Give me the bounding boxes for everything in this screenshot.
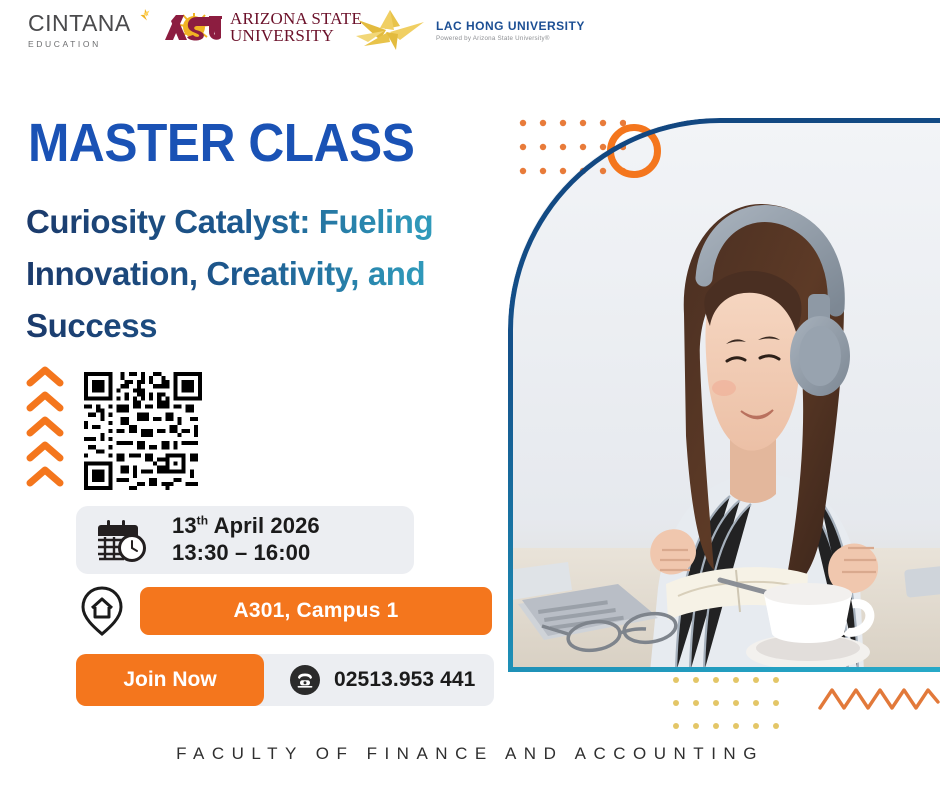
circle-ring-orange <box>607 124 661 178</box>
logo-bar: CINTANA EDUCATION <box>0 0 940 70</box>
datetime-panel: 13th April 2026 13:30 – 16:00 <box>76 506 414 574</box>
lhu-name: LAC HONG UNIVERSITY <box>436 19 585 33</box>
event-date: 13th April 2026 <box>172 513 320 540</box>
chevron-up-icon <box>24 366 68 490</box>
page-title: MASTER CLASS <box>28 112 414 174</box>
cintana-tagline: EDUCATION <box>28 39 101 49</box>
spark-icon <box>132 8 154 35</box>
join-now-button[interactable]: Join Now <box>76 654 264 706</box>
location-label: A301, Campus 1 <box>233 599 398 623</box>
map-pin-home-icon <box>80 586 124 636</box>
lhu-star-icon <box>350 6 432 54</box>
location-badge[interactable]: A301, Campus 1 <box>140 587 492 635</box>
asu-name-line2: UNIVERSITY <box>230 28 362 45</box>
phone-number[interactable]: 02513.953 441 <box>334 668 475 692</box>
event-time: 13:30 – 16:00 <box>172 540 320 567</box>
join-row: Join Now 02513.953 441 <box>76 654 494 706</box>
join-now-label: Join Now <box>123 668 216 692</box>
qr-code-icon[interactable] <box>84 372 202 490</box>
telephone-icon <box>290 665 320 695</box>
cintana-wordmark: CINTANA <box>28 12 131 35</box>
calendar-clock-icon <box>98 517 148 563</box>
lhu-tagline: Powered by Arizona State University® <box>436 35 585 42</box>
zigzag-orange <box>818 682 940 721</box>
hero-photo <box>508 118 940 672</box>
location-row: A301, Campus 1 <box>76 586 494 636</box>
logo-cintana: CINTANA EDUCATION <box>28 12 154 49</box>
asu-sunburst-icon <box>163 13 225 43</box>
page-subtitle: Curiosity Catalyst: Fueling Innovation, … <box>26 196 556 352</box>
logo-asu: ARIZONA STATE UNIVERSITY <box>163 11 362 44</box>
footer-faculty: FACULTY OF FINANCE AND ACCOUNTING <box>0 744 940 764</box>
logo-lac-hong: LAC HONG UNIVERSITY Powered by Arizona S… <box>350 6 585 54</box>
dot-grid-gold <box>672 676 780 739</box>
